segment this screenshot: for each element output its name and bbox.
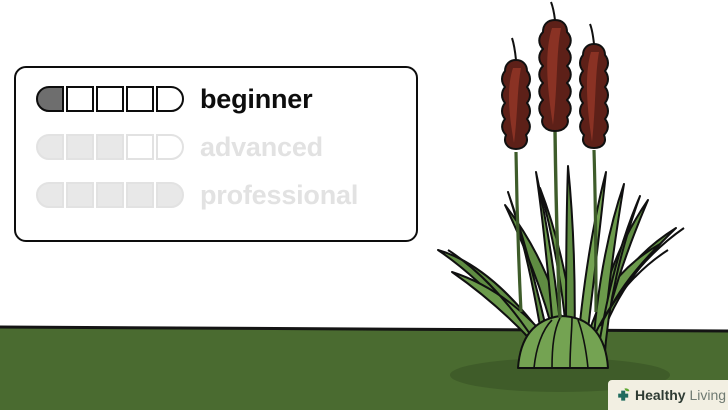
- difficulty-row-advanced[interactable]: advanced: [36, 133, 358, 161]
- meter-segment-3[interactable]: [96, 134, 124, 160]
- difficulty-label-advanced: advanced: [200, 134, 323, 161]
- meter-segment-1[interactable]: [36, 182, 64, 208]
- illustration-scene: beginner advanced: [0, 0, 728, 410]
- health-cross-icon: [615, 387, 632, 404]
- meter-segment-5[interactable]: [156, 86, 184, 112]
- meter-segment-3[interactable]: [96, 86, 124, 112]
- meter-segment-1[interactable]: [36, 134, 64, 160]
- difficulty-meter-professional[interactable]: [36, 182, 184, 208]
- meter-segment-4[interactable]: [126, 134, 154, 160]
- meter-segment-3[interactable]: [96, 182, 124, 208]
- meter-segment-2[interactable]: [66, 86, 94, 112]
- watermark-bold-text: Healthy: [635, 387, 686, 403]
- meter-segment-5[interactable]: [156, 134, 184, 160]
- difficulty-meter-beginner[interactable]: [36, 86, 184, 112]
- difficulty-level-selector[interactable]: beginner advanced: [14, 66, 418, 242]
- meter-segment-4[interactable]: [126, 182, 154, 208]
- difficulty-row-list: beginner advanced: [36, 85, 358, 209]
- meter-segment-4[interactable]: [126, 86, 154, 112]
- meter-segment-2[interactable]: [66, 134, 94, 160]
- watermark-text: Healthy Living: [635, 388, 726, 402]
- watermark-light-text: Living: [686, 387, 726, 403]
- meter-segment-5[interactable]: [156, 182, 184, 208]
- difficulty-row-beginner[interactable]: beginner: [36, 85, 358, 113]
- healthy-living-watermark: Healthy Living: [608, 380, 728, 410]
- difficulty-label-beginner: beginner: [200, 86, 312, 113]
- difficulty-row-professional[interactable]: professional: [36, 181, 358, 209]
- difficulty-meter-advanced[interactable]: [36, 134, 184, 160]
- meter-segment-1[interactable]: [36, 86, 64, 112]
- difficulty-label-professional: professional: [200, 182, 358, 209]
- meter-segment-2[interactable]: [66, 182, 94, 208]
